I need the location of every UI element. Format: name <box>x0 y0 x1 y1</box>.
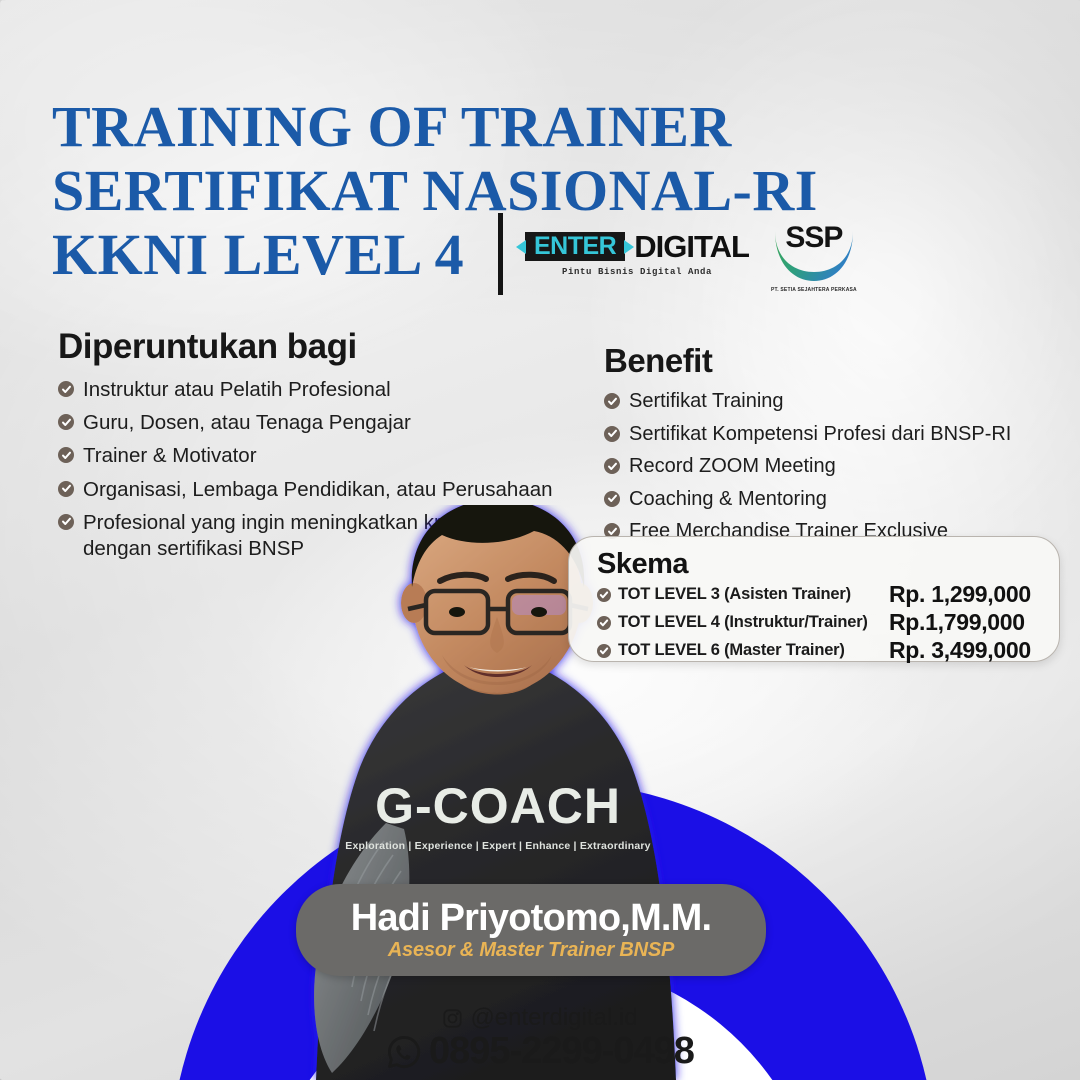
check-circle-icon <box>58 481 74 497</box>
poster-root: TRAINING OF TRAINER SERTIFIKAT NASIONAL-… <box>0 0 1080 1080</box>
skema-level-label: TOT LEVEL 3 (Asisten Trainer) <box>618 585 851 604</box>
trainer-name: Hadi Priyotomo,M.M. <box>351 898 712 938</box>
list-item: Guru, Dosen, atau Tenaga Pengajar <box>58 410 588 436</box>
check-circle-icon <box>58 381 74 397</box>
logo-strip: ENTER DIGITAL Pintu Bisnis Digital Anda … <box>498 213 857 295</box>
skema-price: Rp.1,799,000 <box>889 609 1025 636</box>
ssp-logo: SSP PT. SETIA SEJAHTERA PERKASA <box>771 217 857 291</box>
skema-row-label-wrap: TOT LEVEL 4 (Instruktur/Trainer) <box>597 613 889 632</box>
table-row: TOT LEVEL 6 (Master Trainer) Rp. 3,499,0… <box>597 637 1043 664</box>
logo-divider <box>498 213 503 295</box>
check-circle-icon <box>58 514 74 530</box>
check-circle-icon <box>58 447 74 463</box>
skema-row-label-wrap: TOT LEVEL 3 (Asisten Trainer) <box>597 585 889 604</box>
list-item-label: Organisasi, Lembaga Pendidikan, atau Per… <box>83 477 553 503</box>
audience-section-title: Diperuntukan bagi <box>58 327 588 367</box>
ssp-wordmark: SSP <box>771 223 857 253</box>
skema-level-label: TOT LEVEL 4 (Instruktur/Trainer) <box>618 613 868 632</box>
check-circle-icon <box>604 426 620 442</box>
trainer-subtitle: Asesor & Master Trainer BNSP <box>388 939 674 962</box>
shirt-print-tagline: Exploration | Experience | Expert | Enha… <box>345 840 650 852</box>
trainer-name-banner: Hadi Priyotomo,M.M. Asesor & Master Trai… <box>296 884 766 976</box>
instagram-handle[interactable]: @enterdigital.id <box>470 1004 637 1032</box>
list-item: Trainer & Motivator <box>58 443 588 469</box>
benefit-section-title: Benefit <box>604 342 1054 380</box>
contact-section: @enterdigital.id 0895-2299-0498 <box>0 1004 1080 1073</box>
enter-digital-tagline: Pintu Bisnis Digital Anda <box>562 267 712 277</box>
skema-price: Rp. 1,299,000 <box>889 581 1031 608</box>
list-item-label: Instruktur atau Pelatih Profesional <box>83 377 391 403</box>
check-circle-icon <box>597 616 611 630</box>
whatsapp-number[interactable]: 0895-2299-0498 <box>429 1030 694 1073</box>
list-item: Sertifikat Kompetensi Profesi dari BNSP-… <box>604 422 1054 448</box>
headline-line-1: TRAINING OF TRAINER <box>52 95 912 159</box>
list-item-label: Guru, Dosen, atau Tenaga Pengajar <box>83 410 411 436</box>
list-item: Instruktur atau Pelatih Profesional <box>58 377 588 403</box>
list-item-label: Trainer & Motivator <box>83 443 257 469</box>
list-item-label: Record ZOOM Meeting <box>629 454 836 480</box>
enter-digital-logo: ENTER DIGITAL Pintu Bisnis Digital Anda <box>525 231 749 277</box>
check-circle-icon <box>604 458 620 474</box>
list-item-label: Sertifikat Training <box>629 389 784 415</box>
enter-digital-wordmark: ENTER DIGITAL <box>525 231 749 262</box>
check-circle-icon <box>604 393 620 409</box>
shirt-print-text: G-COACH <box>375 778 621 834</box>
skema-title: Skema <box>597 549 1043 579</box>
table-row: TOT LEVEL 3 (Asisten Trainer) Rp. 1,299,… <box>597 581 1043 608</box>
skema-price-card: Skema TOT LEVEL 3 (Asisten Trainer) Rp. … <box>568 536 1060 662</box>
digital-word: DIGITAL <box>634 231 749 262</box>
skema-level-label: TOT LEVEL 6 (Master Trainer) <box>618 641 845 660</box>
list-item-label: Sertifikat Kompetensi Profesi dari BNSP-… <box>629 422 1011 448</box>
whatsapp-contact-row[interactable]: 0895-2299-0498 <box>0 1030 1080 1073</box>
table-row: TOT LEVEL 4 (Instruktur/Trainer) Rp.1,79… <box>597 609 1043 636</box>
list-item: Sertifikat Training <box>604 389 1054 415</box>
skema-row-label-wrap: TOT LEVEL 6 (Master Trainer) <box>597 641 889 660</box>
instagram-contact-row[interactable]: @enterdigital.id <box>0 1004 1080 1032</box>
check-circle-icon <box>597 588 611 602</box>
skema-price: Rp. 3,499,000 <box>889 637 1031 664</box>
list-item: Organisasi, Lembaga Pendidikan, atau Per… <box>58 477 588 503</box>
check-circle-icon <box>597 644 611 658</box>
ssp-caption: PT. SETIA SEJAHTERA PERKASA <box>771 287 857 293</box>
enter-word: ENTER <box>525 232 625 261</box>
whatsapp-icon[interactable] <box>386 1034 422 1070</box>
list-item: Record ZOOM Meeting <box>604 454 1054 480</box>
check-circle-icon <box>58 414 74 430</box>
instagram-icon[interactable] <box>442 1008 463 1029</box>
